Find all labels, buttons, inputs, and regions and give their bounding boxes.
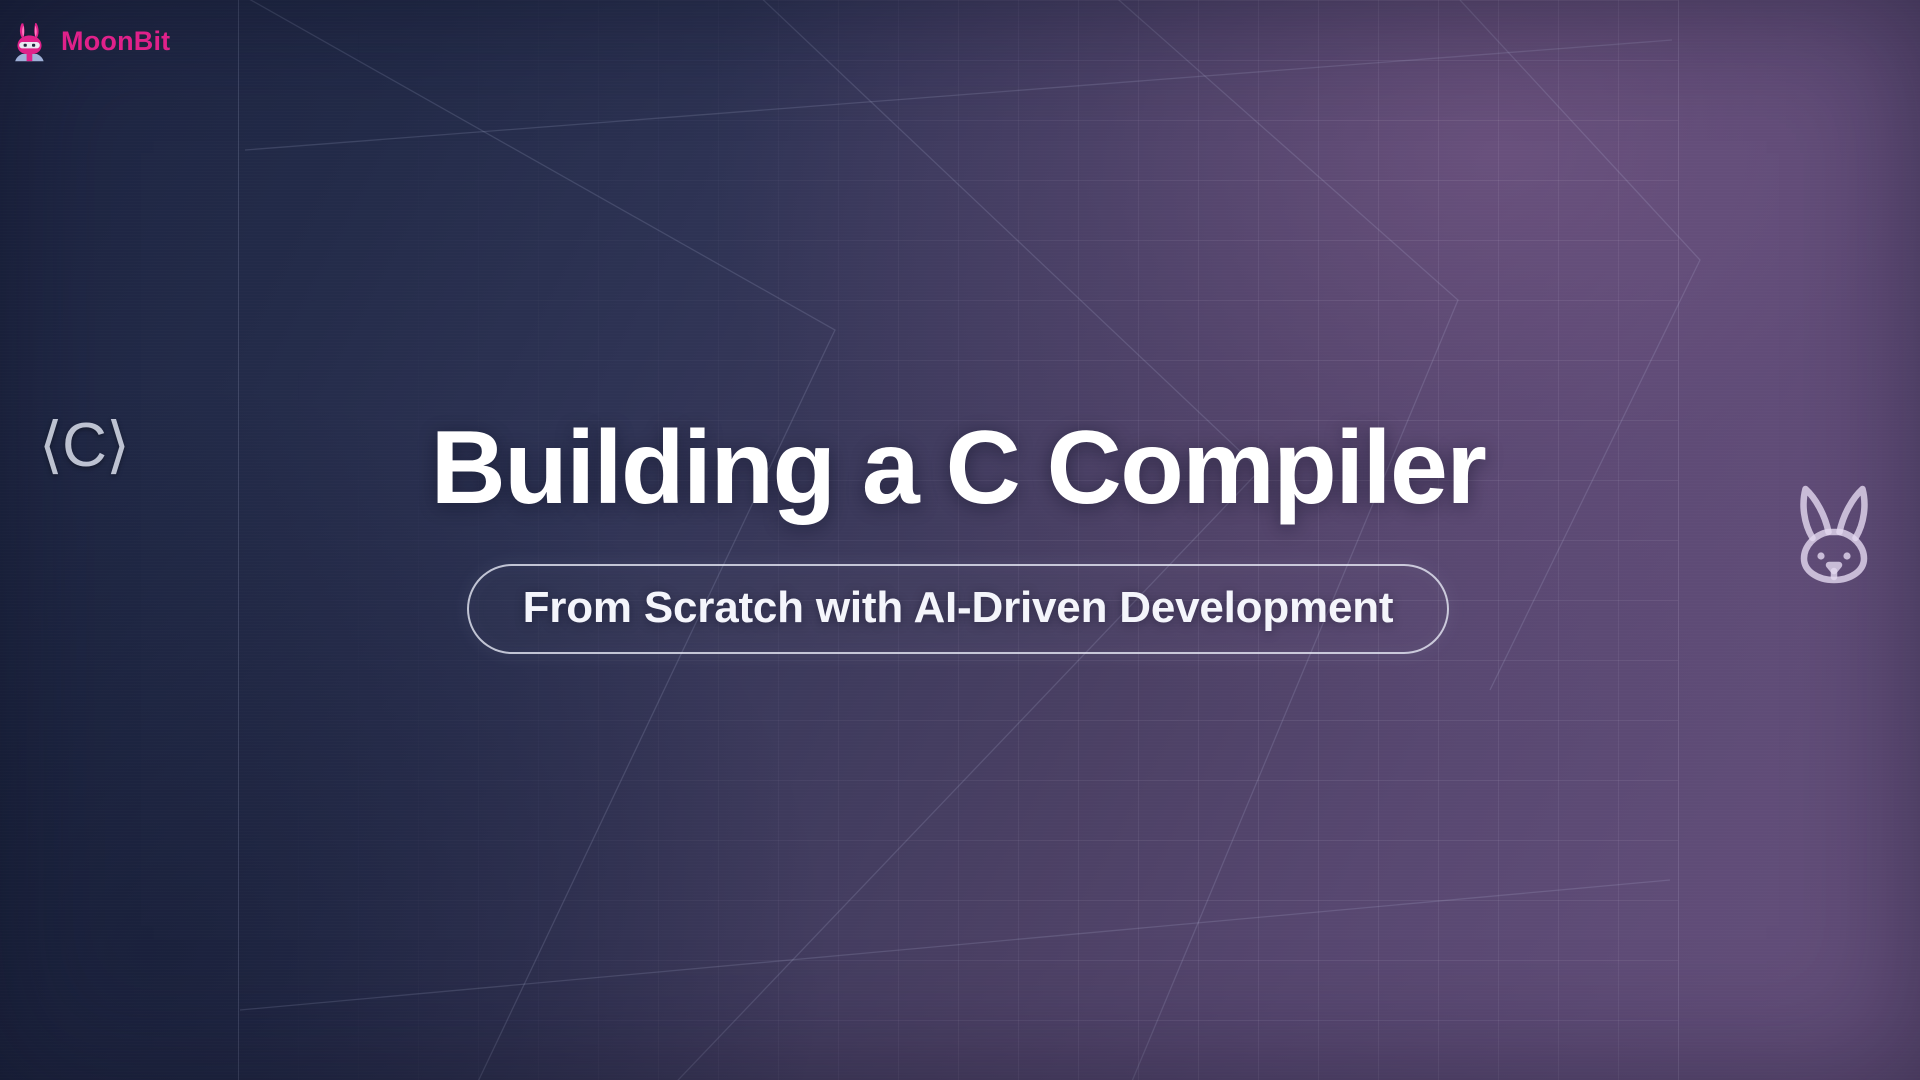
presentation-slide: MoonBit ⟨C⟩ Building a C Compiler From S… (0, 0, 1920, 1080)
angle-bracket-c-glyph: ⟨C⟩ (39, 415, 129, 477)
moonbit-rabbit-logo-icon (10, 20, 50, 62)
brand-lockup: MoonBit (10, 20, 170, 62)
rabbit-outline-icon (1782, 478, 1886, 590)
panel-divider-right (1678, 0, 1679, 1080)
slide-content: Building a C Compiler From Scratch with … (238, 0, 1678, 1080)
subtitle-pill: From Scratch with AI-Driven Development (467, 564, 1450, 654)
slide-subtitle: From Scratch with AI-Driven Development (523, 586, 1394, 630)
brand-name: MoonBit (61, 28, 170, 55)
slide-title: Building a C Compiler (431, 416, 1486, 520)
angle-bracket-c-icon: ⟨C⟩ (38, 400, 130, 492)
